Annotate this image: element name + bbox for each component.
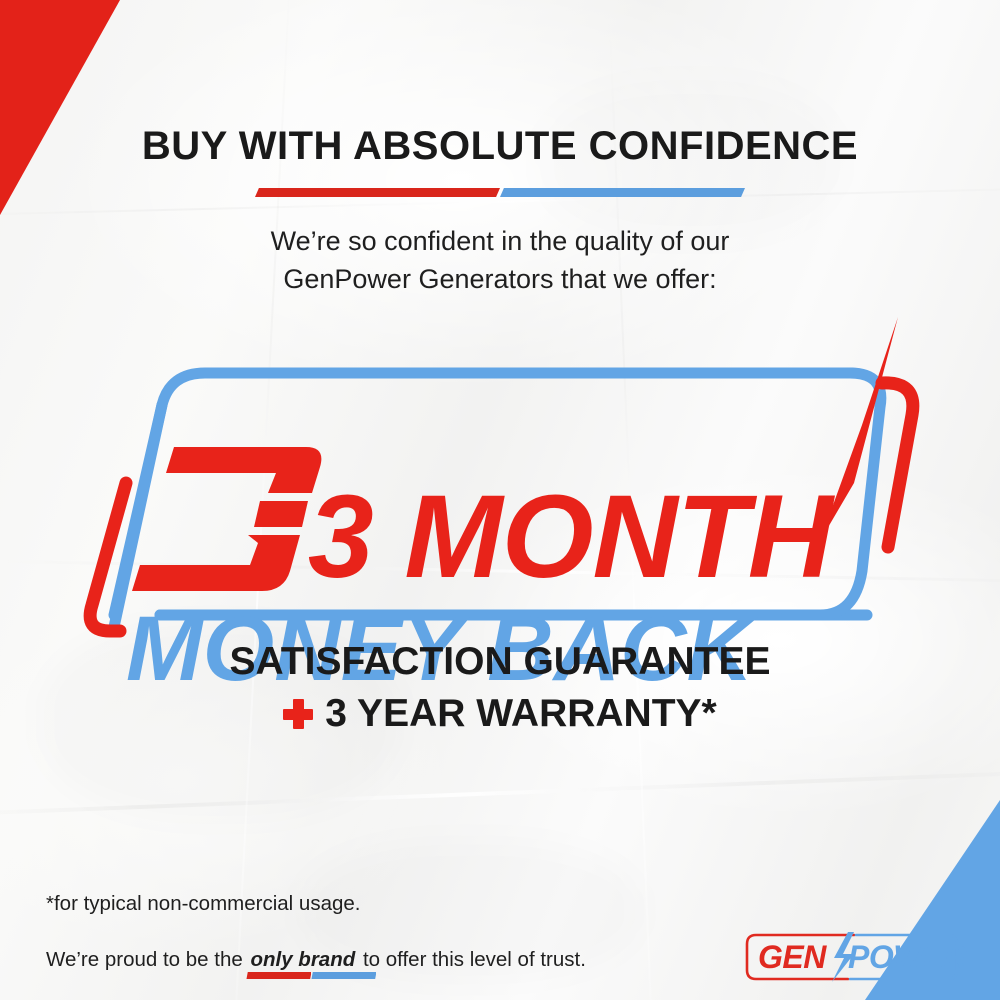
- only-brand-underline: [246, 972, 376, 979]
- divider-blue-segment: [500, 188, 745, 197]
- money-back-badge: 3 MONTH MONEY BACK: [62, 315, 952, 655]
- logo-text-gen: GEN: [758, 939, 827, 975]
- satisfaction-guarantee-text: SATISFACTION GUARANTEE: [0, 640, 1000, 684]
- red-blue-divider: [255, 188, 745, 197]
- divider-red-segment: [255, 188, 500, 197]
- footer-disclaimer: *for typical non-commercial usage.: [46, 892, 960, 916]
- only-brand-highlight: only brand: [248, 948, 357, 971]
- badge-line-1-text: 3 MONTH: [308, 471, 836, 603]
- poster-canvas: BUY WITH ABSOLUTE CONFIDENCE We’re so co…: [0, 0, 1000, 1000]
- badge-frame-red-right: [882, 383, 913, 547]
- logo-text-power: POWER: [848, 939, 967, 975]
- trust-text-after: to offer this level of trust.: [357, 948, 586, 971]
- warranty-line: 3 YEAR WARRANTY*: [0, 692, 1000, 736]
- footer: *for typical non-commercial usage. We’re…: [46, 892, 960, 982]
- badge-line-1: 3 MONTH: [132, 447, 836, 603]
- red-corner-wedge: [0, 0, 120, 215]
- footer-trust-line: We’re proud to be the only brand to offe…: [46, 948, 586, 982]
- genpower-logo: GEN POWER: [744, 932, 960, 982]
- underline-blue-segment: [311, 972, 376, 979]
- page-title: BUY WITH ABSOLUTE CONFIDENCE: [0, 124, 1000, 169]
- underline-red-segment: [246, 972, 311, 979]
- plus-icon: [283, 699, 313, 729]
- only-brand-text: only brand: [250, 948, 355, 971]
- subtitle-line-2: GenPower Generators that we offer:: [0, 260, 1000, 298]
- subtitle: We’re so confident in the quality of our…: [0, 222, 1000, 299]
- subtitle-line-1: We’re so confident in the quality of our: [0, 222, 1000, 260]
- warranty-text: 3 YEAR WARRANTY*: [325, 692, 717, 736]
- paper-crease: [0, 767, 1000, 816]
- reversed-three-glyph: [132, 447, 321, 591]
- trust-text-before: We’re proud to be the: [46, 948, 248, 971]
